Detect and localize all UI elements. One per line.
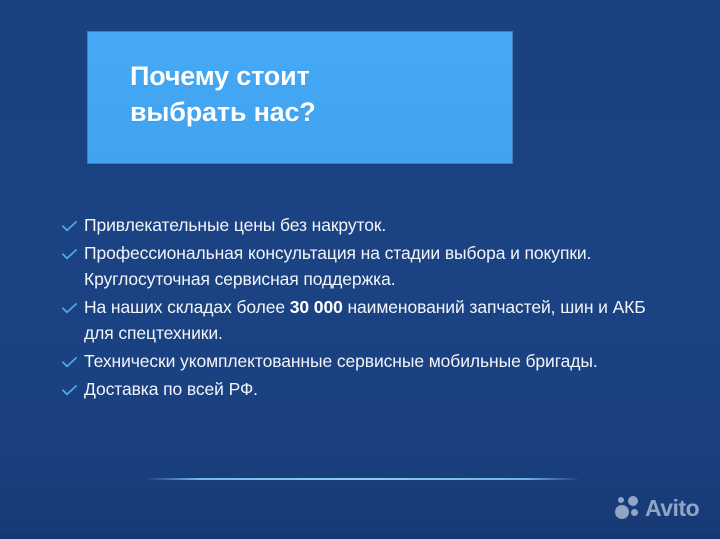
- divider: [148, 478, 578, 480]
- list-item-label: Привлекательные цены без накруток.: [84, 212, 662, 238]
- list-item-highlight: 30 000: [290, 297, 343, 317]
- check-icon: [62, 242, 84, 260]
- list-item: На наших складах более 30 000 наименован…: [62, 294, 662, 346]
- list-item-label: Доставка по всей РФ.: [84, 376, 662, 402]
- bottom-edge-band: [0, 532, 720, 539]
- avito-watermark: Avito: [614, 494, 699, 522]
- check-icon: [62, 350, 84, 368]
- slide-canvas: Почему стоит выбрать нас? Привлекательны…: [0, 0, 720, 539]
- avito-wordmark: Avito: [645, 494, 699, 522]
- check-icon: [62, 296, 84, 314]
- list-item-label: Технически укомплектованные сервисные мо…: [84, 348, 662, 374]
- page-title: Почему стоит выбрать нас?: [130, 59, 316, 131]
- benefits-list: Привлекательные цены без накруток. Профе…: [62, 212, 662, 404]
- title-banner: Почему стоит выбрать нас?: [88, 32, 512, 163]
- avito-dots-icon: [614, 494, 646, 522]
- check-icon: [62, 378, 84, 396]
- list-item-label: Профессиональная консультация на стадии …: [84, 240, 662, 292]
- list-item-text-before: На наших складах более: [84, 297, 290, 317]
- list-item-label: На наших складах более 30 000 наименован…: [84, 294, 662, 346]
- check-icon: [62, 214, 84, 232]
- list-item: Привлекательные цены без накруток.: [62, 212, 662, 238]
- list-item: Профессиональная консультация на стадии …: [62, 240, 662, 292]
- list-item: Доставка по всей РФ.: [62, 376, 662, 402]
- list-item: Технически укомплектованные сервисные мо…: [62, 348, 662, 374]
